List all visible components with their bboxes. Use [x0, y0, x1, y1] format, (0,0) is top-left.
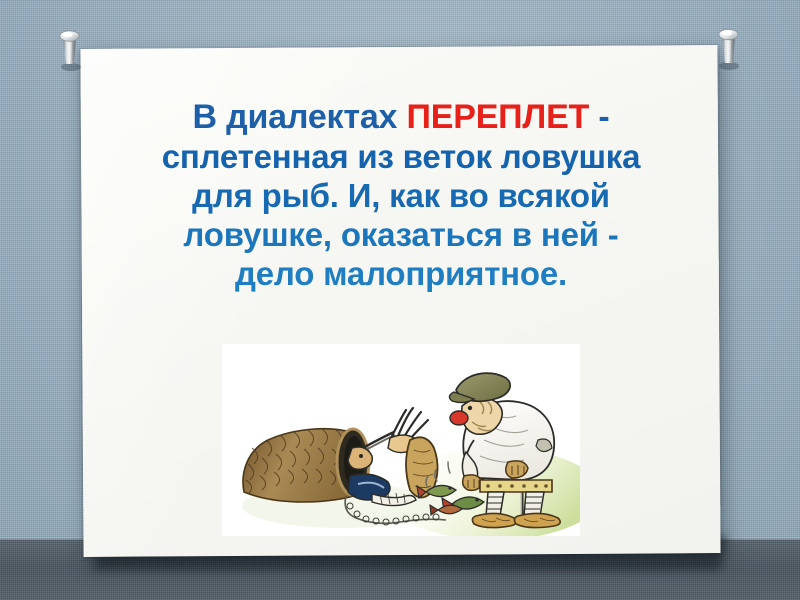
text-line-1: В диалектах ПЕРЕПЛЕТ - — [92, 98, 710, 137]
text-line-1-before: В диалектах — [193, 98, 407, 136]
text-line-5: дело малоприятное. — [92, 254, 710, 293]
keyword-pereplet: ПЕРЕПЛЕТ — [407, 98, 590, 136]
text-line-1-after: - — [589, 98, 609, 136]
slide-canvas: В диалектах ПЕРЕПЛЕТ - сплетенная из вет… — [0, 0, 800, 600]
pushpin-right-icon — [712, 21, 746, 73]
text-line-2: сплетенная из веток ловушка — [92, 137, 710, 176]
text-line-3: для рыб. И, как во всякой — [92, 176, 710, 215]
pushpin-left-icon — [52, 22, 86, 74]
illustration-fish-trap-cartoon: Карикатура: плетёная конусная ловушка дл… — [222, 344, 580, 536]
text-line-4: ловушке, оказаться в ней - — [92, 215, 710, 254]
definition-text-block: В диалектах ПЕРЕПЛЕТ - сплетенная из вет… — [92, 98, 710, 293]
